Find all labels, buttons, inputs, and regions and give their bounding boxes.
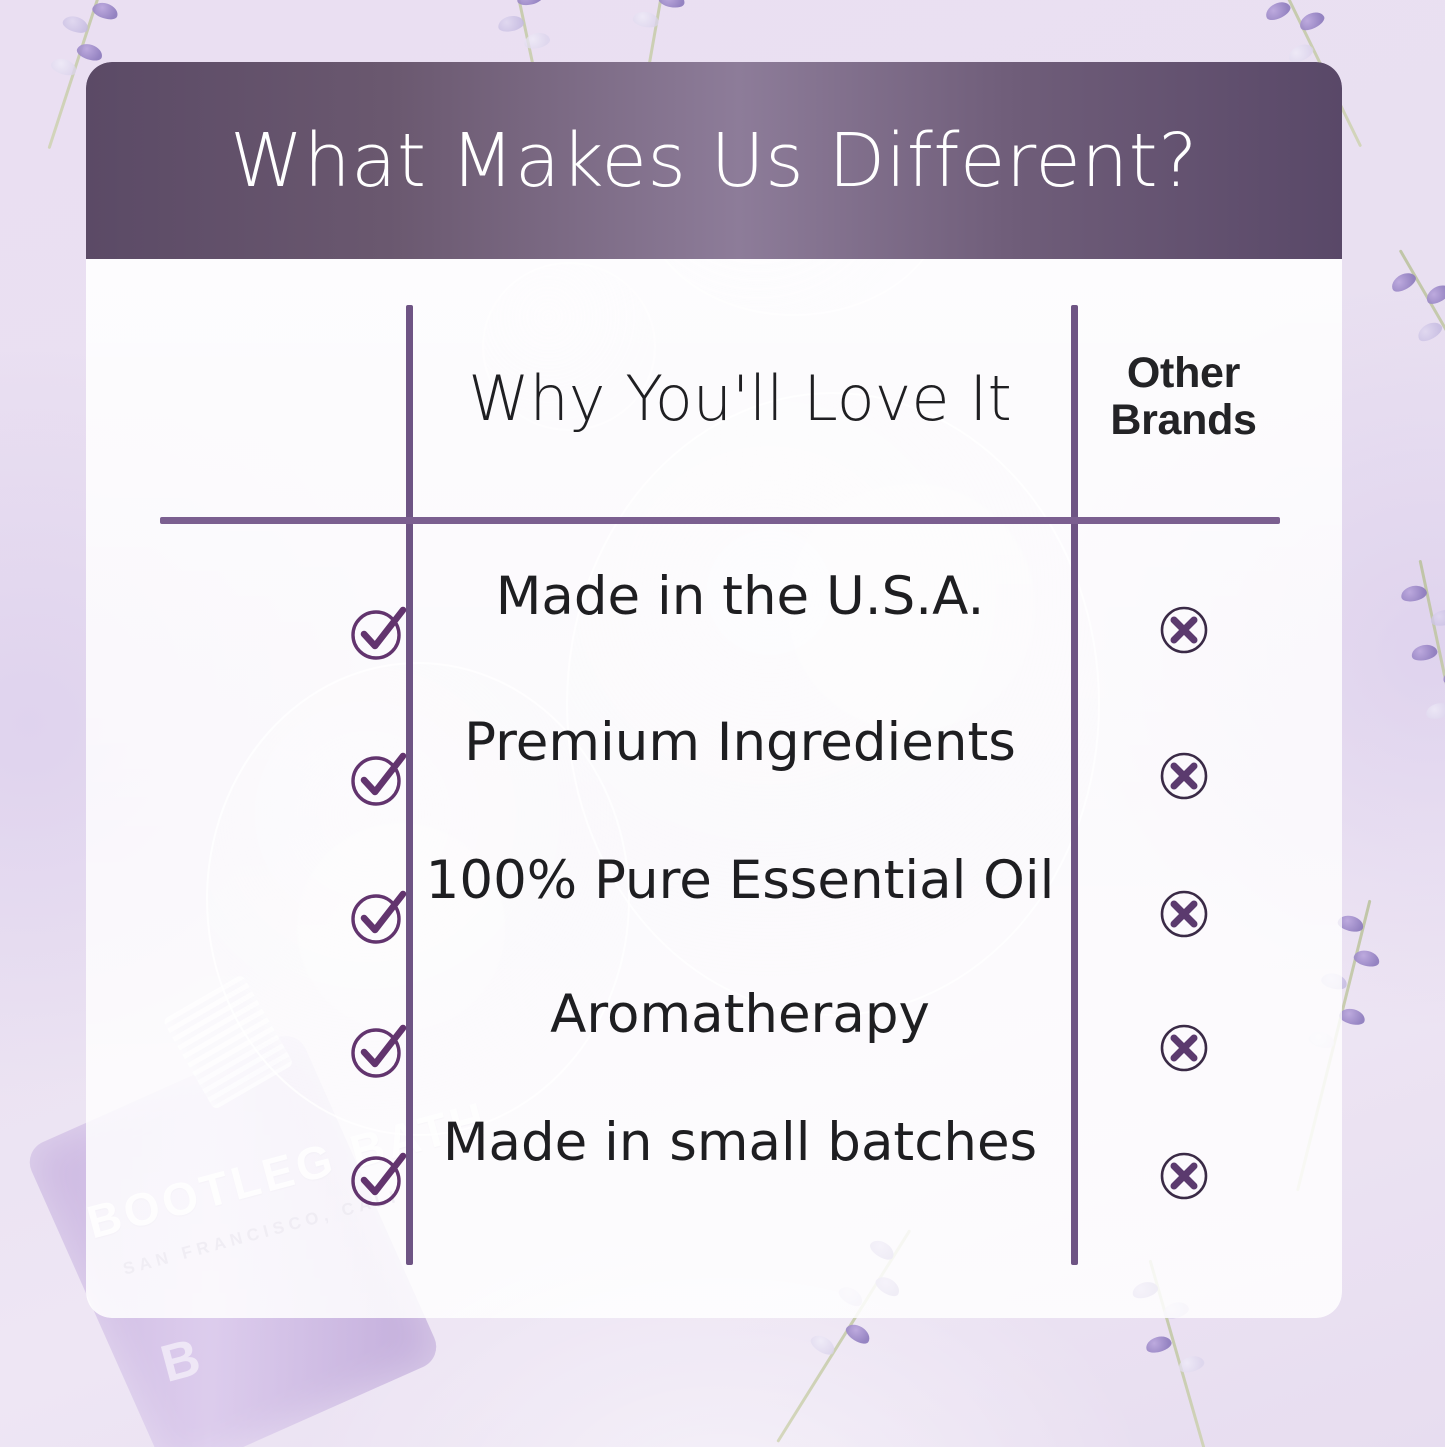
column-header-other-brands: Other Brands <box>1081 350 1286 445</box>
x-circle-icon <box>1158 888 1210 940</box>
row-cross-cell <box>1132 1022 1236 1074</box>
table-divider-right <box>1071 305 1078 1265</box>
check-circle-icon <box>347 602 409 664</box>
row-cross-cell <box>1132 604 1236 656</box>
column-header-other-brands-line1: Other <box>1081 350 1286 397</box>
check-circle-icon <box>347 1148 409 1210</box>
x-circle-icon <box>1158 750 1210 802</box>
row-cross-cell <box>1132 1150 1236 1202</box>
check-circle-icon <box>347 748 409 810</box>
x-circle-icon <box>1158 604 1210 656</box>
row-label: Premium Ingredients <box>416 712 1064 773</box>
check-circle-icon <box>347 886 409 948</box>
comparison-table: Why You'll Love It Other Brands Made in … <box>86 62 1342 1318</box>
table-header-rule <box>160 517 1280 524</box>
row-label: 100% Pure Essential Oil <box>416 850 1064 911</box>
row-label: Made in the U.S.A. <box>416 566 1064 627</box>
row-cross-cell <box>1132 888 1236 940</box>
row-label: Made in small batches <box>416 1112 1064 1173</box>
column-header-other-brands-line2: Brands <box>1081 397 1286 444</box>
row-cross-cell <box>1132 750 1236 802</box>
x-circle-icon <box>1158 1150 1210 1202</box>
comparison-card: What Makes Us Different? Why You'll Love… <box>86 62 1342 1318</box>
column-header-ours: Why You'll Love It <box>416 362 1064 435</box>
check-circle-icon <box>347 1020 409 1082</box>
x-circle-icon <box>1158 1022 1210 1074</box>
row-label: Aromatherapy <box>416 984 1064 1045</box>
